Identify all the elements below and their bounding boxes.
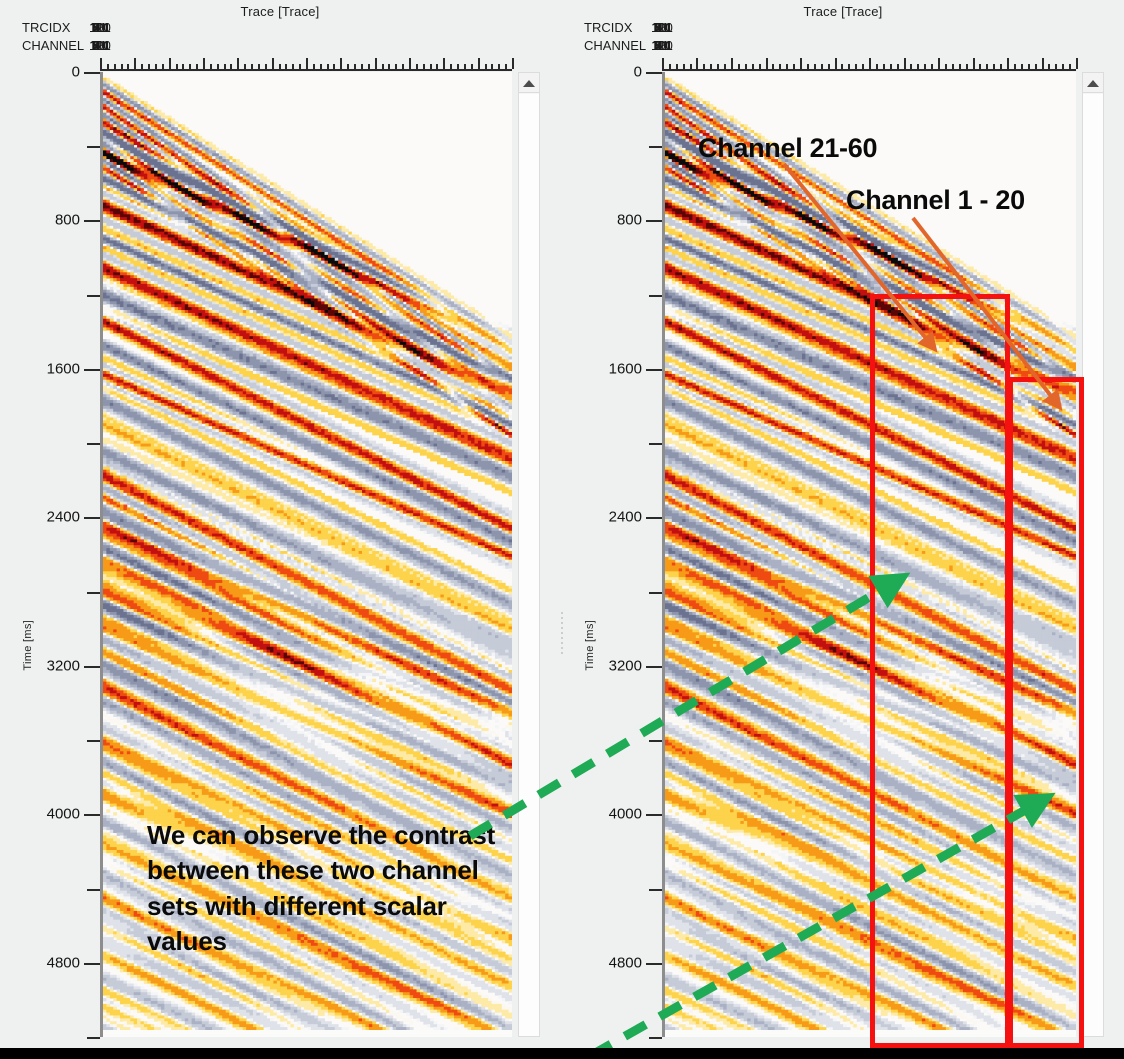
ruler-major-tick xyxy=(134,58,136,69)
y-minor-tick xyxy=(649,295,662,297)
y-major-tick xyxy=(84,369,100,371)
ruler-minor-tick xyxy=(779,64,781,69)
y-tick-label: 2400 xyxy=(47,509,80,526)
y-tick-label: 1600 xyxy=(47,360,80,377)
y-minor-tick xyxy=(87,146,100,148)
ruler-major-tick xyxy=(203,58,205,69)
ruler-minor-tick xyxy=(155,64,157,69)
y-tick-label: 4000 xyxy=(47,806,80,823)
ruler-major-tick xyxy=(1007,58,1009,69)
y-major-tick xyxy=(646,666,662,668)
ruler-minor-tick xyxy=(230,64,232,69)
ruler-minor-tick xyxy=(966,64,968,69)
ruler-minor-tick xyxy=(828,64,830,69)
ruler-minor-tick xyxy=(395,64,397,69)
ruler-minor-tick xyxy=(430,64,432,69)
y-major-tick xyxy=(646,814,662,816)
ruler-minor-tick xyxy=(1014,64,1016,69)
ruler-minor-tick xyxy=(986,64,988,69)
ruler-minor-tick xyxy=(388,64,390,69)
y-minor-tick xyxy=(649,889,662,891)
ruler-minor-tick xyxy=(786,64,788,69)
y-tick-label: 4000 xyxy=(609,806,642,823)
y-axis-title-right: Time [ms] xyxy=(584,620,596,671)
ruler-minor-tick xyxy=(416,64,418,69)
ruler-minor-tick xyxy=(917,64,919,69)
ruler-minor-tick xyxy=(327,64,329,69)
ruler-minor-tick xyxy=(1000,64,1002,69)
ruler-minor-tick xyxy=(876,64,878,69)
ruler-minor-tick xyxy=(1048,64,1050,69)
highlight-box-channel-1-20 xyxy=(1008,377,1084,1048)
ruler-minor-tick xyxy=(745,64,747,69)
x-axis-title-right: Trace [Trace] xyxy=(562,4,1124,19)
ruler-minor-tick xyxy=(176,64,178,69)
ruler-minor-tick xyxy=(148,64,150,69)
ruler-minor-tick xyxy=(285,64,287,69)
ruler-minor-tick xyxy=(299,64,301,69)
y-major-tick xyxy=(646,369,662,371)
ruler-minor-tick xyxy=(141,64,143,69)
y-axis-right: 080016002400320040004800 xyxy=(562,72,662,1037)
y-tick-label: 2400 xyxy=(609,509,642,526)
ruler-major-tick xyxy=(1042,58,1044,69)
highlight-box-channel-21-60 xyxy=(870,294,1010,1048)
ruler-minor-tick xyxy=(931,64,933,69)
ruler-minor-tick xyxy=(127,64,129,69)
ruler-minor-tick xyxy=(945,64,947,69)
header-row-name: CHANNEL xyxy=(584,38,646,53)
ruler-minor-tick xyxy=(717,64,719,69)
ruler-minor-tick xyxy=(361,64,363,69)
ruler-minor-tick xyxy=(485,64,487,69)
ruler-minor-tick xyxy=(107,64,109,69)
ruler-major-tick xyxy=(169,58,171,69)
y-minor-tick xyxy=(87,443,100,445)
x-axis-title-left: Trace [Trace] xyxy=(0,4,560,19)
ruler-minor-tick xyxy=(952,64,954,69)
y-tick-label: 0 xyxy=(634,64,642,81)
y-major-tick xyxy=(646,220,662,222)
ruler-minor-tick xyxy=(320,64,322,69)
y-minor-tick xyxy=(649,592,662,594)
ruler-minor-tick xyxy=(354,64,356,69)
ruler-minor-tick xyxy=(793,64,795,69)
ruler-major-tick xyxy=(835,58,837,69)
ruler-minor-tick xyxy=(423,64,425,69)
ruler-minor-tick xyxy=(924,64,926,69)
ruler-minor-tick xyxy=(114,64,116,69)
ruler-minor-tick xyxy=(1055,64,1057,69)
scroll-up-button-right[interactable] xyxy=(1083,73,1103,93)
ruler-minor-tick xyxy=(724,64,726,69)
header-row-name: CHANNEL xyxy=(22,38,84,53)
seismic-plot-left[interactable]: We can observe the contrast between thes… xyxy=(100,72,512,1037)
ruler-minor-tick xyxy=(258,64,260,69)
y-major-tick xyxy=(84,666,100,668)
ruler-minor-tick xyxy=(313,64,315,69)
y-tick-label: 4800 xyxy=(47,954,80,971)
y-minor-tick xyxy=(87,740,100,742)
ruler-major-tick xyxy=(375,58,377,69)
ruler-major-tick xyxy=(766,58,768,69)
y-minor-tick xyxy=(87,592,100,594)
ruler-minor-tick xyxy=(910,64,912,69)
ruler-minor-tick xyxy=(814,64,816,69)
y-minor-tick xyxy=(87,889,100,891)
ruler-minor-tick xyxy=(738,64,740,69)
x-tick-label: 1 xyxy=(96,20,103,35)
y-minor-tick xyxy=(649,146,662,148)
ruler-major-tick xyxy=(100,58,102,69)
ruler-minor-tick xyxy=(855,64,857,69)
ruler-major-tick xyxy=(340,58,342,69)
ruler-minor-tick xyxy=(752,64,754,69)
ruler-minor-tick xyxy=(471,64,473,69)
x-axis-ruler-left xyxy=(100,57,512,71)
ruler-minor-tick xyxy=(491,64,493,69)
ruler-minor-tick xyxy=(848,64,850,69)
ruler-minor-tick xyxy=(210,64,212,69)
ruler-minor-tick xyxy=(1069,64,1071,69)
y-major-tick xyxy=(646,72,662,74)
ruler-minor-tick xyxy=(772,64,774,69)
ruler-minor-tick xyxy=(669,64,671,69)
ruler-minor-tick xyxy=(759,64,761,69)
ruler-minor-tick xyxy=(224,64,226,69)
ruler-minor-tick xyxy=(265,64,267,69)
channel-label-21-60: Channel 21-60 xyxy=(698,133,877,164)
ruler-major-tick xyxy=(306,58,308,69)
bottom-black-bar xyxy=(0,1048,1124,1059)
ruler-minor-tick xyxy=(464,64,466,69)
ruler-minor-tick xyxy=(1028,64,1030,69)
ruler-minor-tick xyxy=(196,64,198,69)
ruler-minor-tick xyxy=(436,64,438,69)
ruler-minor-tick xyxy=(292,64,294,69)
ruler-minor-tick xyxy=(890,64,892,69)
ruler-major-tick xyxy=(478,58,480,69)
ruler-major-tick xyxy=(731,58,733,69)
ruler-minor-tick xyxy=(189,64,191,69)
ruler-minor-tick xyxy=(897,64,899,69)
channel-label-1-20: Channel 1 - 20 xyxy=(846,185,1025,216)
y-major-tick xyxy=(84,220,100,222)
ruler-minor-tick xyxy=(1062,64,1064,69)
ruler-minor-tick xyxy=(959,64,961,69)
y-axis-left: 080016002400320040004800 xyxy=(0,72,100,1037)
ruler-minor-tick xyxy=(382,64,384,69)
y-major-tick xyxy=(84,963,100,965)
ruler-minor-tick xyxy=(368,64,370,69)
ruler-major-tick xyxy=(938,58,940,69)
header-row-name: TRCIDX xyxy=(22,20,70,35)
ruler-major-tick xyxy=(696,58,698,69)
screenshot-root: Trace [Trace] TRCIDX 1201111019181716151… xyxy=(0,0,1124,1059)
ruler-minor-tick xyxy=(244,64,246,69)
triangle-up-icon xyxy=(1087,80,1099,87)
y-major-tick xyxy=(646,963,662,965)
ruler-major-tick xyxy=(800,58,802,69)
y-minor-tick xyxy=(649,1037,662,1039)
x-tick-label: 1 xyxy=(658,38,665,53)
ruler-minor-tick xyxy=(279,64,281,69)
ruler-major-tick xyxy=(443,58,445,69)
ruler-major-tick xyxy=(272,58,274,69)
triangle-up-icon xyxy=(523,80,535,87)
ruler-minor-tick xyxy=(979,64,981,69)
header-row-name: TRCIDX xyxy=(584,20,632,35)
ruler-major-tick xyxy=(237,58,239,69)
ruler-major-tick xyxy=(904,58,906,69)
ruler-minor-tick xyxy=(505,64,507,69)
ruler-minor-tick xyxy=(347,64,349,69)
x-axis-ruler-right xyxy=(662,57,1076,71)
ruler-minor-tick xyxy=(690,64,692,69)
scroll-up-button-left[interactable] xyxy=(519,73,539,93)
ruler-minor-tick xyxy=(841,64,843,69)
y-major-tick xyxy=(646,517,662,519)
x-tick-label: 1 xyxy=(658,20,665,35)
y-minor-tick xyxy=(87,1037,100,1039)
ruler-minor-tick xyxy=(457,64,459,69)
ruler-major-tick xyxy=(869,58,871,69)
ruler-minor-tick xyxy=(821,64,823,69)
ruler-minor-tick xyxy=(162,64,164,69)
ruler-minor-tick xyxy=(683,64,685,69)
vertical-scrollbar-left[interactable] xyxy=(518,72,540,1037)
y-axis-title-left: Time [ms] xyxy=(22,620,34,671)
ruler-minor-tick xyxy=(498,64,500,69)
y-tick-label: 3200 xyxy=(47,657,80,674)
ruler-major-tick xyxy=(662,58,664,69)
annotation-note-text: We can observe the contrast between thes… xyxy=(147,818,512,959)
x-tick-label: 1 xyxy=(96,38,103,53)
ruler-minor-tick xyxy=(182,64,184,69)
y-tick-label: 800 xyxy=(55,212,80,229)
ruler-minor-tick xyxy=(450,64,452,69)
y-tick-label: 800 xyxy=(617,212,642,229)
y-minor-tick xyxy=(87,295,100,297)
y-major-tick xyxy=(84,517,100,519)
ruler-minor-tick xyxy=(807,64,809,69)
panel-splitter-handle[interactable] xyxy=(560,612,565,658)
y-major-tick xyxy=(84,72,100,74)
seismic-panel-left: Trace [Trace] TRCIDX 1201111019181716151… xyxy=(0,0,560,1048)
y-tick-label: 0 xyxy=(72,64,80,81)
vertical-scrollbar-right[interactable] xyxy=(1082,72,1104,1037)
ruler-minor-tick xyxy=(710,64,712,69)
ruler-minor-tick xyxy=(402,64,404,69)
ruler-minor-tick xyxy=(676,64,678,69)
y-minor-tick xyxy=(649,443,662,445)
ruler-minor-tick xyxy=(1035,64,1037,69)
ruler-major-tick xyxy=(1076,58,1078,69)
ruler-minor-tick xyxy=(993,64,995,69)
ruler-minor-tick xyxy=(1021,64,1023,69)
ruler-minor-tick xyxy=(217,64,219,69)
ruler-major-tick xyxy=(512,58,514,69)
y-tick-label: 1600 xyxy=(609,360,642,377)
ruler-minor-tick xyxy=(862,64,864,69)
y-major-tick xyxy=(84,814,100,816)
ruler-minor-tick xyxy=(251,64,253,69)
scrollbar-thumb-right[interactable] xyxy=(1083,94,1103,1036)
ruler-major-tick xyxy=(409,58,411,69)
ruler-major-tick xyxy=(973,58,975,69)
y-minor-tick xyxy=(649,740,662,742)
y-tick-label: 3200 xyxy=(609,657,642,674)
ruler-minor-tick xyxy=(121,64,123,69)
scrollbar-thumb-left[interactable] xyxy=(519,94,539,1036)
ruler-minor-tick xyxy=(703,64,705,69)
ruler-minor-tick xyxy=(883,64,885,69)
y-tick-label: 4800 xyxy=(609,954,642,971)
ruler-minor-tick xyxy=(333,64,335,69)
